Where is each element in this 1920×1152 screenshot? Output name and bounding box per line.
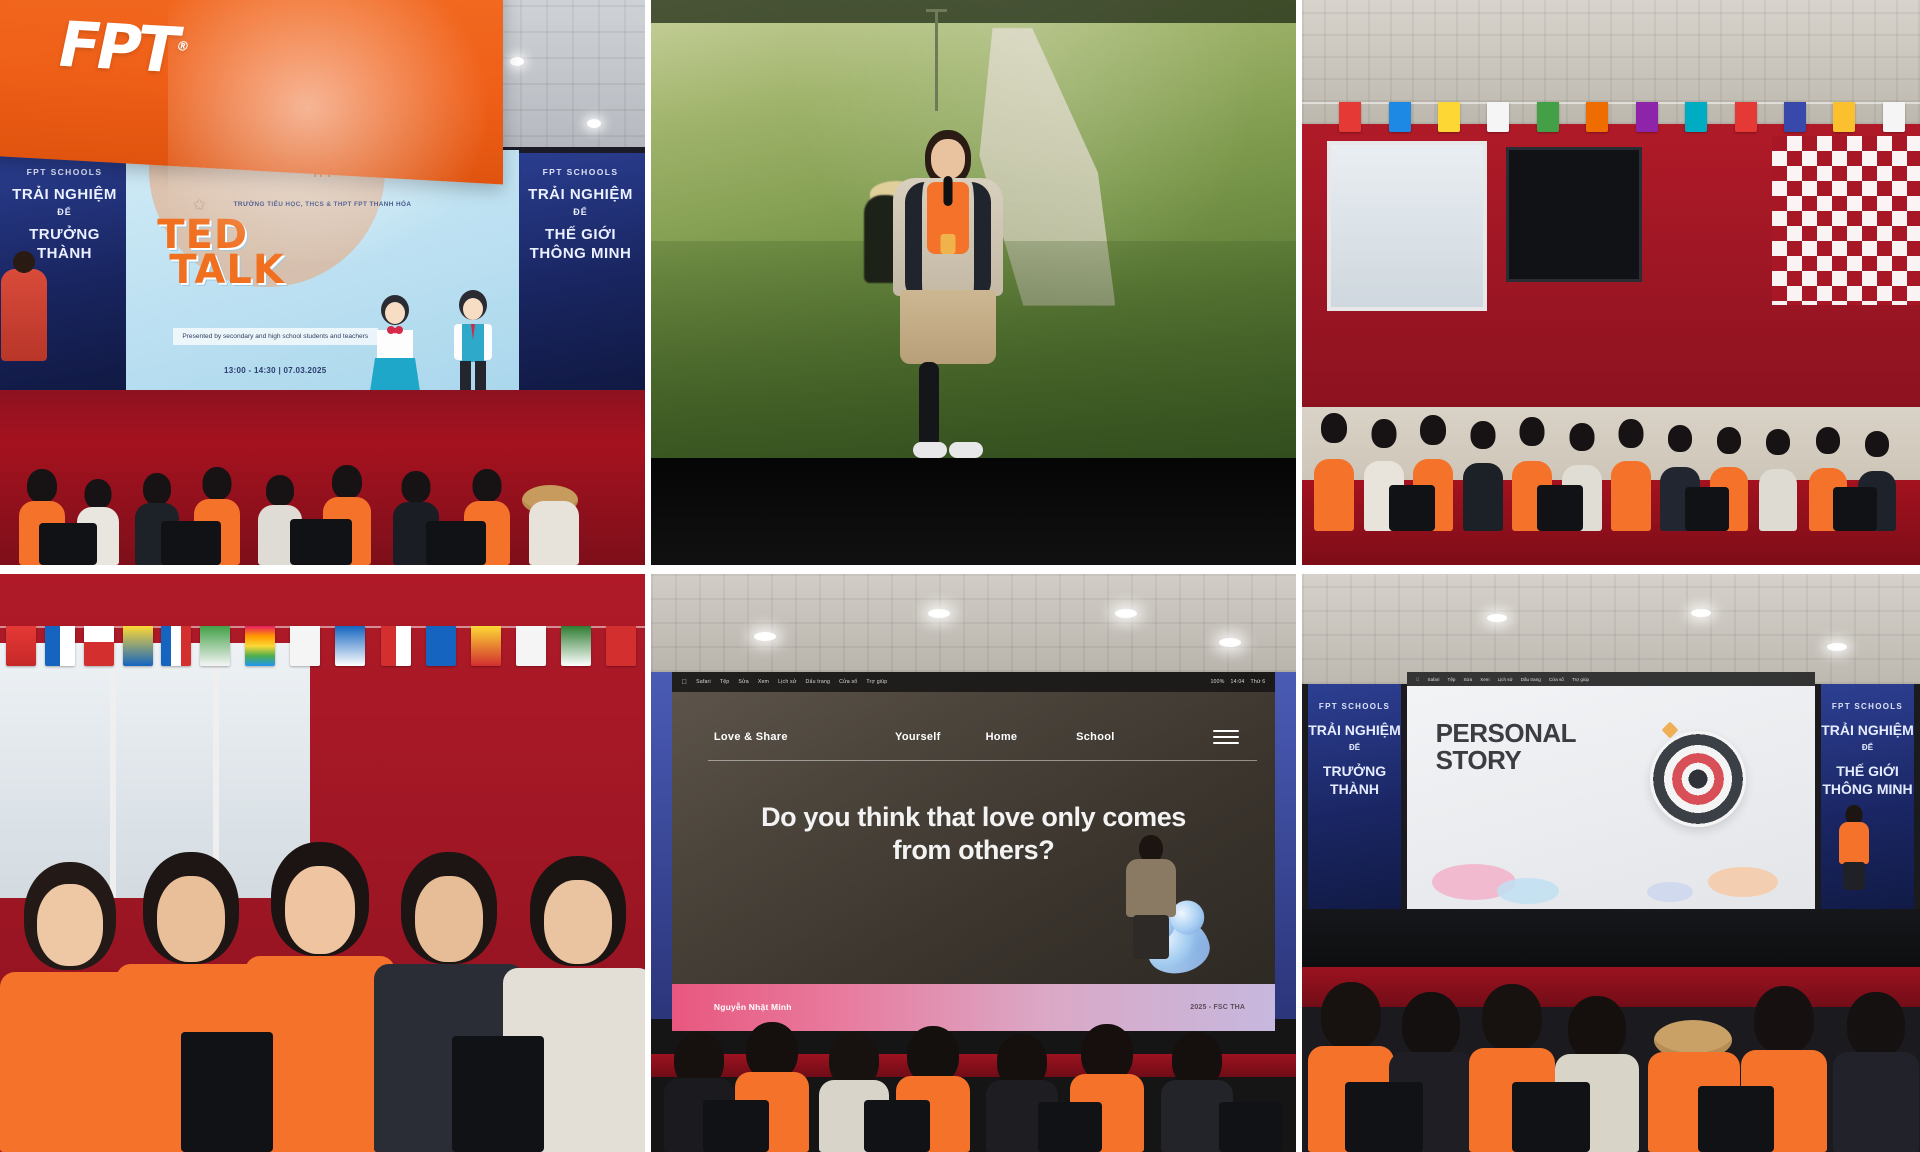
panel-love-and-share-slide:  Safari Tệp Sửa Xem Lịch sử Dấu trang C…: [651, 574, 1296, 1152]
menu-item-help[interactable]: Trợ giúp: [1572, 677, 1589, 682]
presentation-screen:  Safari Tệp Sửa Xem Lịch sử Dấu trang C…: [1407, 672, 1815, 909]
flag-icon: [1685, 102, 1707, 132]
nav-divider: [708, 760, 1257, 761]
presenter-figure: [1837, 805, 1871, 889]
flag-icon: [45, 626, 75, 666]
downlight-icon: [1691, 609, 1711, 617]
panel-auditorium-ted-talk: FPT SCHOOLS TRẢI NGHIỆM ĐỂ TRƯỞNG THÀNH …: [0, 0, 645, 565]
downlight-icon: [1115, 609, 1137, 618]
audience-figure: [1611, 419, 1651, 531]
menu-item-bookmarks[interactable]: Dấu trang: [806, 679, 831, 685]
question-line-1: Do you think that love only comes: [708, 801, 1239, 834]
chair-back: [1698, 1086, 1774, 1152]
ted-talk-title: TED TALK: [157, 218, 285, 287]
macos-menu-bar:  Safari Tệp Sửa Xem Lịch sử Dấu trang C…: [1407, 672, 1815, 686]
flag-icon: [1586, 102, 1608, 132]
flag-icon: [1784, 102, 1806, 132]
battery-percent: 100%: [1210, 679, 1224, 685]
utility-pole: [935, 9, 938, 111]
banner-line2: ĐỂ: [1308, 743, 1401, 752]
menu-item-window[interactable]: Cửa sổ: [1549, 677, 1564, 682]
flag-icon: [200, 626, 230, 666]
chair-back: [703, 1100, 769, 1152]
photo-collage: FPT SCHOOLS TRẢI NGHIỆM ĐỂ TRƯỞNG THÀNH …: [0, 0, 1920, 1152]
flag-icon: [123, 626, 153, 666]
flag-icon: [1339, 102, 1361, 132]
menu-item-safari[interactable]: Safari: [1428, 677, 1440, 682]
weekday: Thứ 6: [1251, 679, 1266, 685]
banner-line1: TRẢI NGHIỆM: [1308, 721, 1401, 739]
audience-figure: [1314, 413, 1354, 531]
menu-item-history[interactable]: Lịch sử: [1498, 677, 1513, 682]
flag-icon: [426, 626, 456, 666]
downlight-icon: [510, 57, 524, 66]
chair-back: [452, 1036, 544, 1152]
presenter-figure: [1123, 835, 1179, 955]
flag-icon: [1537, 102, 1559, 132]
slide-title-line1: PERSONAL: [1436, 720, 1576, 747]
nav-item-school[interactable]: School: [1076, 731, 1114, 743]
panel-student-speaker: [651, 0, 1296, 565]
audience-silhouettes: [651, 990, 1296, 1152]
macos-menu-bar:  Safari Tệp Sửa Xem Lịch sử Dấu trang C…: [672, 672, 1276, 692]
hamburger-icon[interactable]: [1213, 726, 1239, 748]
shoe-icon: [913, 442, 947, 458]
flag-icon: [1833, 102, 1855, 132]
fpt-logo-text: FPT: [51, 8, 183, 88]
ceiling: [651, 574, 1296, 672]
menu-item-bookmarks[interactable]: Dấu trang: [1521, 677, 1541, 682]
audience-silhouettes: [1302, 886, 1920, 1152]
flag-icon: [381, 626, 411, 666]
menu-item-view[interactable]: Xem: [1480, 677, 1489, 682]
speaker-legs: [919, 362, 977, 448]
banner-line1: TRẢI NGHIỆM: [516, 186, 645, 205]
flag-icon: [561, 626, 591, 666]
presentation-screen:  Safari Tệp Sửa Xem Lịch sử Dấu trang C…: [672, 672, 1276, 1030]
panel-personal-story-slide: FPT SCHOOLS TRẢI NGHIỆM ĐỂ TRƯỞNG THÀNH …: [1302, 574, 1920, 1152]
menu-item-file[interactable]: Tệp: [720, 679, 730, 685]
audience-figure: [1463, 421, 1503, 531]
menu-item-history[interactable]: Lịch sử: [778, 679, 796, 685]
flag-icon: [245, 626, 275, 666]
flag-icon: [1636, 102, 1658, 132]
student-speaker-figure: [889, 130, 1007, 503]
menu-item-view[interactable]: Xem: [758, 679, 769, 685]
menu-item-edit[interactable]: Sửa: [738, 679, 748, 685]
flag-icon: [1389, 102, 1411, 132]
chair-back: [39, 523, 97, 565]
banner-line3: THẾ GIỚI THÔNG MINH: [1821, 762, 1914, 798]
flag-icon: [1883, 102, 1905, 132]
chair-back: [1389, 485, 1435, 531]
slide-title: PERSONAL STORY: [1436, 720, 1576, 775]
chair-back: [1219, 1102, 1283, 1152]
audience-area: [0, 305, 645, 565]
banner-line1: TRẢI NGHIỆM: [0, 186, 129, 205]
stage-side-panel-left: [651, 672, 672, 1019]
chair-back: [1512, 1082, 1590, 1152]
banner-line2: ĐỂ: [0, 207, 129, 217]
audience-figure: [1759, 429, 1797, 531]
slide-nav: Love & Share Yourself Home School: [672, 715, 1276, 758]
flag-icon: [6, 626, 36, 666]
microphone-icon: [943, 176, 952, 206]
stage-side-panel-right: [1275, 672, 1296, 1019]
chair-back: [1038, 1102, 1102, 1152]
banner-line3: THẾ GIỚI THÔNG MINH: [516, 226, 645, 264]
downlight-icon: [928, 609, 950, 618]
chair-back: [290, 519, 352, 565]
flag-icon: [335, 626, 365, 666]
panel-audience-closeup: [0, 574, 645, 1152]
banner-school-label: FPT SCHOOLS: [516, 167, 645, 177]
chair-back: [1537, 485, 1583, 531]
audience-figure: [529, 473, 579, 565]
apple-logo-icon: : [682, 679, 687, 686]
chair-back: [1345, 1082, 1423, 1152]
banner-school-label: FPT SCHOOLS: [0, 167, 129, 177]
flag-icon: [161, 626, 191, 666]
flag-icon: [606, 626, 636, 666]
panel-red-hall-wide-audience: [1302, 0, 1920, 565]
chair-back: [161, 521, 221, 565]
downlight-icon: [754, 632, 776, 641]
menu-item-help[interactable]: Trợ giúp: [866, 679, 887, 685]
banner-line2: ĐỂ: [1821, 743, 1914, 752]
flag-icon: [290, 626, 320, 666]
chair-back: [426, 521, 486, 565]
nav-brand-love-and-share[interactable]: Love & Share: [714, 731, 788, 743]
fpt-logo: FPT®: [51, 8, 196, 88]
menu-item-window[interactable]: Cửa sổ: [839, 679, 857, 685]
apple-logo-icon: : [1416, 677, 1419, 682]
banner-line1: TRẢI NGHIỆM: [1821, 721, 1914, 739]
flag-icon: [516, 626, 546, 666]
speaker-face: [931, 139, 965, 179]
nav-item-home[interactable]: Home: [986, 731, 1018, 743]
chair-back: [1833, 487, 1877, 531]
stage-banner-left: FPT SCHOOLS TRẢI NGHIỆM ĐỂ TRƯỞNG THÀNH: [1308, 684, 1401, 915]
menu-bar-status: 100% 14:04 Thứ 6: [1210, 679, 1265, 685]
chair-back: [864, 1100, 930, 1152]
nav-item-yourself[interactable]: Yourself: [895, 731, 941, 743]
menu-item-safari[interactable]: Safari: [696, 679, 711, 685]
flag-icon: [1735, 102, 1757, 132]
front-row-audience: [0, 794, 645, 1152]
school-name-line: TRƯỜNG TIỂU HỌC, THCS & THPT FPT THANH H…: [234, 201, 412, 208]
flag-icon: [1487, 102, 1509, 132]
gutter: [0, 565, 1920, 574]
slide-title-line2: STORY: [1436, 747, 1576, 774]
banner-school-label: FPT SCHOOLS: [1821, 702, 1914, 711]
chair-back: [181, 1032, 273, 1152]
menu-item-file[interactable]: Tệp: [1448, 677, 1456, 682]
menu-item-edit[interactable]: Sửa: [1463, 677, 1472, 682]
flag-icon: [84, 626, 114, 666]
audience-figure: [1833, 992, 1919, 1152]
banner-line3: TRƯỞNG THÀNH: [1308, 762, 1401, 798]
screen-top-edge: [651, 0, 1296, 23]
audience-rows: [1302, 215, 1920, 531]
banner-line2: ĐỂ: [516, 207, 645, 217]
lanyard-badge: [940, 234, 955, 254]
ted-title-line2: TALK: [169, 253, 285, 287]
downlight-icon: [1219, 638, 1241, 647]
flag-icon: [1438, 102, 1460, 132]
flag-icon: [471, 626, 501, 666]
shoe-icon: [949, 442, 983, 458]
ceiling: [1302, 574, 1920, 684]
banner-school-label: FPT SCHOOLS: [1308, 702, 1401, 711]
speaker-skirt: [900, 290, 996, 364]
clock: 14:04: [1231, 679, 1245, 685]
chair-back: [1685, 487, 1729, 531]
target-dartboard-icon: [1650, 731, 1746, 827]
downlight-icon: [587, 119, 601, 128]
